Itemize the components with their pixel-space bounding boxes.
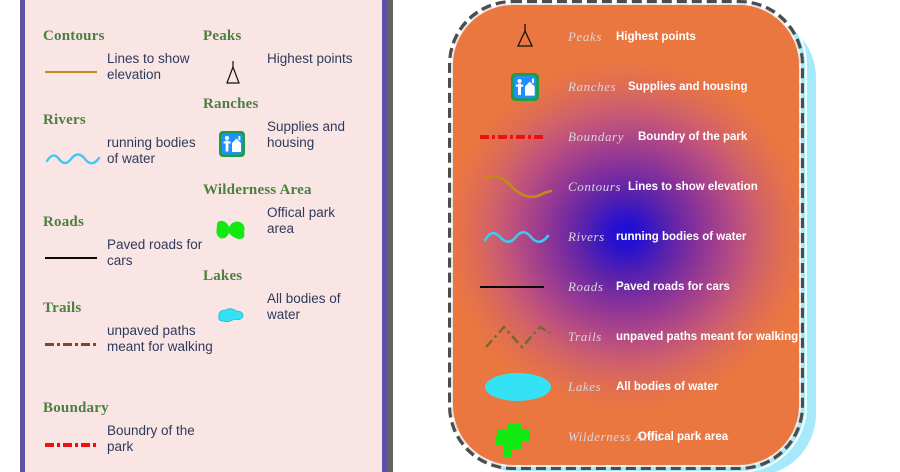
legend-row-ranches[interactable]: Ranches Supplies and housing (452, 62, 800, 112)
road-line-symbol (45, 245, 103, 275)
legend-entry-ranches[interactable]: Ranches (203, 96, 259, 163)
legend-heading-peaks: Peaks (203, 28, 242, 45)
legend-description-peaks: Highest points (267, 51, 363, 67)
peak-triangle-symbol (490, 15, 560, 59)
legend-desc-wilderness: Offical park area (638, 431, 728, 443)
legend-heading-boundary: Boundary (43, 400, 109, 417)
legend-body-ranches: Supplies and housing (203, 119, 259, 163)
legend-heading-contours: Contours (43, 28, 105, 45)
legend-entry-lakes[interactable]: Lakes All bodies of water (203, 268, 242, 335)
legend-heading-wilderness: Wilderness Area (203, 182, 312, 199)
legend-entry-boundary[interactable]: Boundary Boundry of the park (43, 400, 109, 467)
legend-body-roads: Paved roads for cars (43, 237, 84, 281)
legend-description-roads: Paved roads for cars (107, 237, 217, 269)
peak-triangle-symbol (205, 59, 263, 89)
boundary-dashdot-symbol (45, 431, 103, 461)
legend-body-wilderness: Offical park area (203, 205, 312, 249)
legend-row-rivers[interactable]: Rivers running bodies of water (452, 212, 800, 262)
left-legend-columns: Contours Lines to show elevation Rivers (25, 0, 382, 472)
legend-heading-ranches: Ranches (203, 96, 259, 113)
legend-entry-wilderness[interactable]: Wilderness Area Offical park area (203, 182, 312, 249)
legend-row-lakes[interactable]: Lakes All bodies of water (452, 362, 800, 412)
river-wave-symbol (45, 143, 103, 173)
left-legend-column-b: Peaks Highest points Ranches (203, 0, 378, 472)
legend-entry-contours[interactable]: Contours Lines to show elevation (43, 28, 105, 95)
contour-line-symbol (45, 59, 103, 89)
legend-desc-rivers: running bodies of water (616, 231, 746, 243)
ranch-sign-symbol (205, 127, 263, 157)
legend-heading-lakes: Lakes (203, 268, 242, 285)
legend-description-lakes: All bodies of water (267, 291, 363, 323)
lake-ellipse-symbol (480, 365, 556, 409)
left-legend-column-a: Contours Lines to show elevation Rivers (43, 0, 208, 472)
legend-comparison-stage: Contours Lines to show elevation Rivers (0, 0, 900, 472)
legend-description-ranches: Supplies and housing (267, 119, 363, 151)
legend-row-contours[interactable]: Contours Lines to show elevation (452, 162, 800, 212)
legend-desc-ranches: Supplies and housing (628, 81, 747, 93)
legend-desc-boundary: Boundry of the park (638, 131, 747, 143)
ranch-sign-symbol (490, 65, 560, 109)
legend-entry-peaks[interactable]: Peaks Highest points (203, 28, 242, 95)
legend-description-trails: unpaved paths meant for walking (107, 323, 217, 355)
legend-description-wilderness: Offical park area (267, 205, 363, 237)
legend-entry-roads[interactable]: Roads Paved roads for cars (43, 214, 84, 281)
legend-body-peaks: Highest points (203, 51, 242, 95)
legend-description-rivers: running bodies of water (107, 135, 203, 167)
legend-desc-lakes: All bodies of water (616, 381, 718, 393)
legend-entry-rivers[interactable]: Rivers running bodies of water (43, 112, 86, 179)
legend-row-trails[interactable]: Trails unpaved paths meant for walking (452, 312, 800, 362)
legend-body-lakes: All bodies of water (203, 291, 242, 335)
right-legend-rows: Peaks Highest points Ranches S (452, 4, 800, 466)
contour-curve-symbol (480, 165, 556, 209)
road-line-symbol (480, 265, 556, 309)
legend-body-rivers: running bodies of water (43, 135, 86, 179)
trail-zigzag-symbol (480, 315, 556, 359)
legend-heading-rivers: Rivers (43, 112, 86, 129)
legend-body-boundary: Boundry of the park (43, 423, 109, 467)
legend-heading-trails: Trails (43, 300, 81, 317)
wilderness-blob-symbol (480, 415, 556, 459)
trail-dashdot-symbol (45, 331, 103, 361)
legend-row-wilderness[interactable]: Wilderness Area Offical park area (452, 412, 800, 462)
wilderness-blob-symbol (205, 213, 263, 243)
lake-blob-symbol (205, 299, 263, 329)
legend-desc-roads: Paved roads for cars (616, 281, 730, 293)
legend-row-boundary[interactable]: Boundary Boundry of the park (452, 112, 800, 162)
left-legend-panel: Contours Lines to show elevation Rivers (20, 0, 387, 472)
legend-desc-contours: Lines to show elevation (628, 181, 758, 193)
legend-row-peaks[interactable]: Peaks Highest points (452, 12, 800, 62)
legend-body-trails: unpaved paths meant for walking (43, 323, 81, 367)
right-legend-panel: Peaks Highest points Ranches S (452, 4, 800, 466)
legend-entry-trails[interactable]: Trails unpaved paths meant for walking (43, 300, 81, 367)
legend-description-boundary: Boundry of the park (107, 423, 217, 455)
legend-row-roads[interactable]: Roads Paved roads for cars (452, 262, 800, 312)
legend-heading-roads: Roads (43, 214, 84, 231)
boundary-dashdot-symbol (480, 115, 556, 159)
legend-desc-trails: unpaved paths meant for walking (616, 331, 798, 343)
river-wave-symbol (480, 215, 556, 259)
legend-body-contours: Lines to show elevation (43, 51, 105, 95)
legend-description-contours: Lines to show elevation (107, 51, 217, 83)
legend-desc-peaks: Highest points (616, 31, 696, 43)
